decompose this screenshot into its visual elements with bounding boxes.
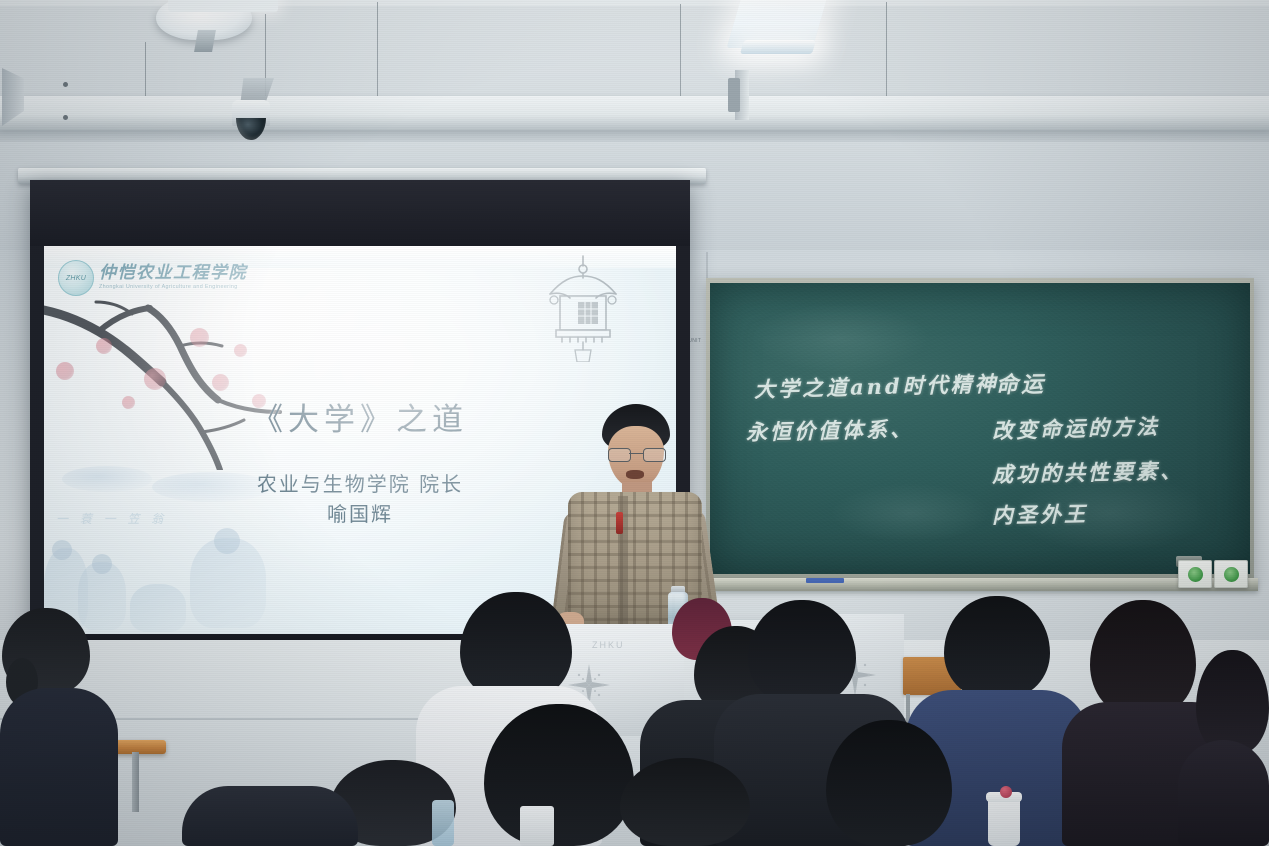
lectern-wordmark: ZHKU <box>592 640 625 650</box>
university-seal-icon: ZHKU <box>58 260 94 296</box>
blossom-icon <box>234 344 247 357</box>
hanging-wire <box>145 42 146 100</box>
logo-english-name: Zhongkai University of Agriculture and E… <box>99 285 247 291</box>
projector-bracket <box>728 78 740 112</box>
student-figure <box>130 584 186 632</box>
audience-body <box>1178 740 1269 846</box>
logo-mark-text: ZHKU <box>66 275 86 282</box>
chalk-smudge <box>750 303 930 373</box>
student-figure <box>78 562 126 630</box>
blue-chalk-strip <box>806 578 844 583</box>
audience-head <box>1090 600 1196 716</box>
ceiling-beam-shadow <box>0 130 1269 142</box>
scholar-figure <box>190 538 266 628</box>
chalk-box-emblem-icon <box>1224 567 1239 582</box>
chalk-text-line: 内圣外王 <box>992 498 1089 530</box>
bracket-bolt <box>63 115 68 120</box>
plum-branch-illustration <box>44 280 336 470</box>
hanging-wire <box>680 4 681 98</box>
blossom-icon <box>56 362 74 380</box>
chalk-smudge <box>830 483 990 543</box>
blackboard-frame: 大学之道and时代精神 永恒价值体系、 命运 改变命运的方法 成功的共性要素、 … <box>706 278 1254 580</box>
logo-chinese-name: 仲恺农业工程学院 <box>99 265 247 283</box>
blackboard: 大学之道and时代精神 永恒价值体系、 命运 改变命运的方法 成功的共性要素、 … <box>710 283 1250 574</box>
chalk-text-line: 永恒价值体系、 <box>746 413 915 447</box>
chinese-lantern-illustration <box>544 254 622 362</box>
audience-head <box>748 600 856 704</box>
chalk-text-line: 命运 <box>996 367 1047 400</box>
audience-head <box>460 592 572 700</box>
student-head <box>52 540 72 560</box>
water-bottle[interactable] <box>432 800 454 846</box>
blossom-icon <box>190 328 209 347</box>
screen-top-band <box>30 180 690 246</box>
fluorescent-tube-icon <box>740 40 816 54</box>
audience-head <box>944 596 1050 698</box>
speaker-mouth <box>626 470 644 479</box>
drink-cup[interactable] <box>988 798 1020 846</box>
ceiling-beam <box>0 96 1269 130</box>
chalk-box[interactable] <box>1214 560 1248 588</box>
fluorescent-tube-icon <box>168 0 278 12</box>
audience-head <box>620 758 750 846</box>
hanging-wire <box>886 2 887 98</box>
chalk-box-emblem-icon <box>1188 567 1203 582</box>
scholar-head <box>214 528 240 554</box>
lecture-hall-photo: SCREEN UNIT ZHKU 仲恺农业工程学院 Zhongkai Unive… <box>0 0 1269 846</box>
university-logo: ZHKU 仲恺农业工程学院 Zhongkai University of Agr… <box>58 260 247 296</box>
chalk-box[interactable] <box>1178 560 1212 588</box>
blossom-icon <box>212 374 229 391</box>
chalk-text-line: 改变命运的方法 <box>992 411 1161 445</box>
audience-head <box>484 704 634 846</box>
glasses-icon <box>608 448 664 460</box>
chalk-text-line: 大学之道and时代精神 <box>754 368 999 404</box>
drink-topping-icon <box>1000 786 1012 798</box>
hanging-wire <box>377 2 378 98</box>
bracket-bolt <box>63 82 68 87</box>
audience-head <box>1196 650 1269 754</box>
audience-head <box>826 720 952 846</box>
chalk-ledge <box>702 578 1258 591</box>
bright-object <box>520 806 554 846</box>
chalk-text-line: 成功的共性要素、 <box>992 455 1185 489</box>
blossom-icon <box>144 368 166 390</box>
desk-leg <box>132 752 139 812</box>
audience-body <box>0 688 118 846</box>
student-head <box>92 554 112 574</box>
audience-body <box>182 786 358 846</box>
blossom-icon <box>96 338 112 354</box>
lapel-microphone-icon <box>616 512 623 534</box>
